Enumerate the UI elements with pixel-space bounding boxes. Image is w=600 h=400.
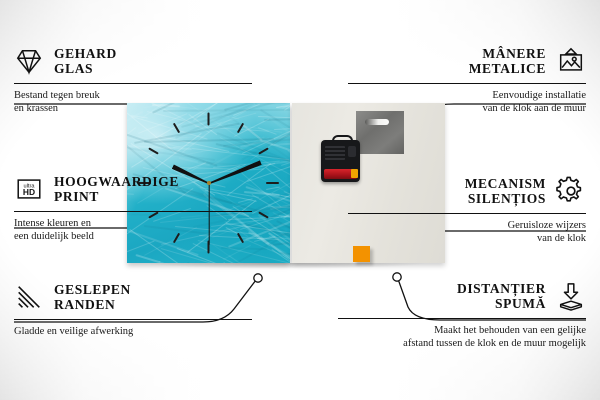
foam-spacer-pad	[353, 246, 370, 262]
framed-picture-icon	[556, 46, 586, 76]
feature-title: DISTANȚIER SPUMĂ	[457, 281, 546, 311]
mechanism-knob	[348, 146, 356, 157]
feature-distantier-spuma: DISTANȚIER SPUMĂ Maakt het behouden van …	[338, 275, 586, 350]
metal-hanger-plate	[356, 111, 404, 154]
divider	[348, 213, 586, 214]
feature-title: GEHARD GLAS	[54, 46, 117, 76]
feature-hoogwaardige-print: ultra HD HOOGWAARDIGE PRINT Intense kleu…	[14, 168, 252, 243]
feature-title: MÂNERE METALICE	[469, 46, 546, 76]
feature-header: MÂNERE METALICE	[348, 40, 586, 82]
feature-title: MECANISM SILENȚIOS	[465, 176, 546, 206]
svg-text:HD: HD	[23, 187, 35, 197]
feature-manere-metalice: MÂNERE METALICE Eenvoudige installatie v…	[348, 40, 586, 115]
feature-description: Intense kleuren en een duidelijk beeld	[14, 217, 252, 243]
gear-icon	[556, 176, 586, 206]
feature-description: Eenvoudige installatie van de klok aan d…	[348, 89, 586, 115]
divider	[14, 83, 252, 84]
divider	[348, 83, 586, 84]
feature-title: GESLEPEN RANDEN	[54, 282, 131, 312]
feature-header: MECANISM SILENȚIOS	[348, 170, 586, 212]
feature-description: Bestand tegen breuk en krassen	[14, 89, 252, 115]
divider	[14, 211, 252, 212]
beveled-edge-icon	[14, 282, 44, 312]
feature-header: GEHARD GLAS	[14, 40, 252, 82]
mechanism-hook	[332, 135, 353, 145]
feature-header: ultra HD HOOGWAARDIGE PRINT	[14, 168, 252, 210]
divider	[338, 318, 586, 319]
product-shadow	[123, 263, 449, 271]
feature-header: GESLEPEN RANDEN	[14, 276, 252, 318]
divider	[14, 319, 252, 320]
feature-gehard-glas: GEHARD GLAS Bestand tegen breuk en krass…	[14, 40, 252, 115]
feature-title: HOOGWAARDIGE PRINT	[54, 174, 179, 204]
feature-mecanism-silentios: MECANISM SILENȚIOS Geruisloze wijzers va…	[348, 170, 586, 245]
feature-header: DISTANȚIER SPUMĂ	[338, 275, 586, 317]
ultra-hd-icon: ultra HD	[14, 174, 44, 204]
feature-description: Maakt het behouden van een gelijke afsta…	[338, 324, 586, 350]
feature-description: Geruisloze wijzers van de klok	[348, 219, 586, 245]
foam-spacer-icon	[556, 281, 586, 311]
hanger-keyhole-slot	[365, 119, 389, 125]
mechanism-grill	[325, 146, 345, 160]
infographic-root: GEHARD GLAS Bestand tegen breuk en krass…	[0, 0, 600, 400]
feature-description: Gladde en veilige afwerking	[14, 325, 252, 338]
feature-geslepen-randen: GESLEPEN RANDEN Gladde en veilige afwerk…	[14, 276, 252, 338]
diamond-icon	[14, 46, 44, 76]
clock-hand-hub	[207, 181, 211, 185]
